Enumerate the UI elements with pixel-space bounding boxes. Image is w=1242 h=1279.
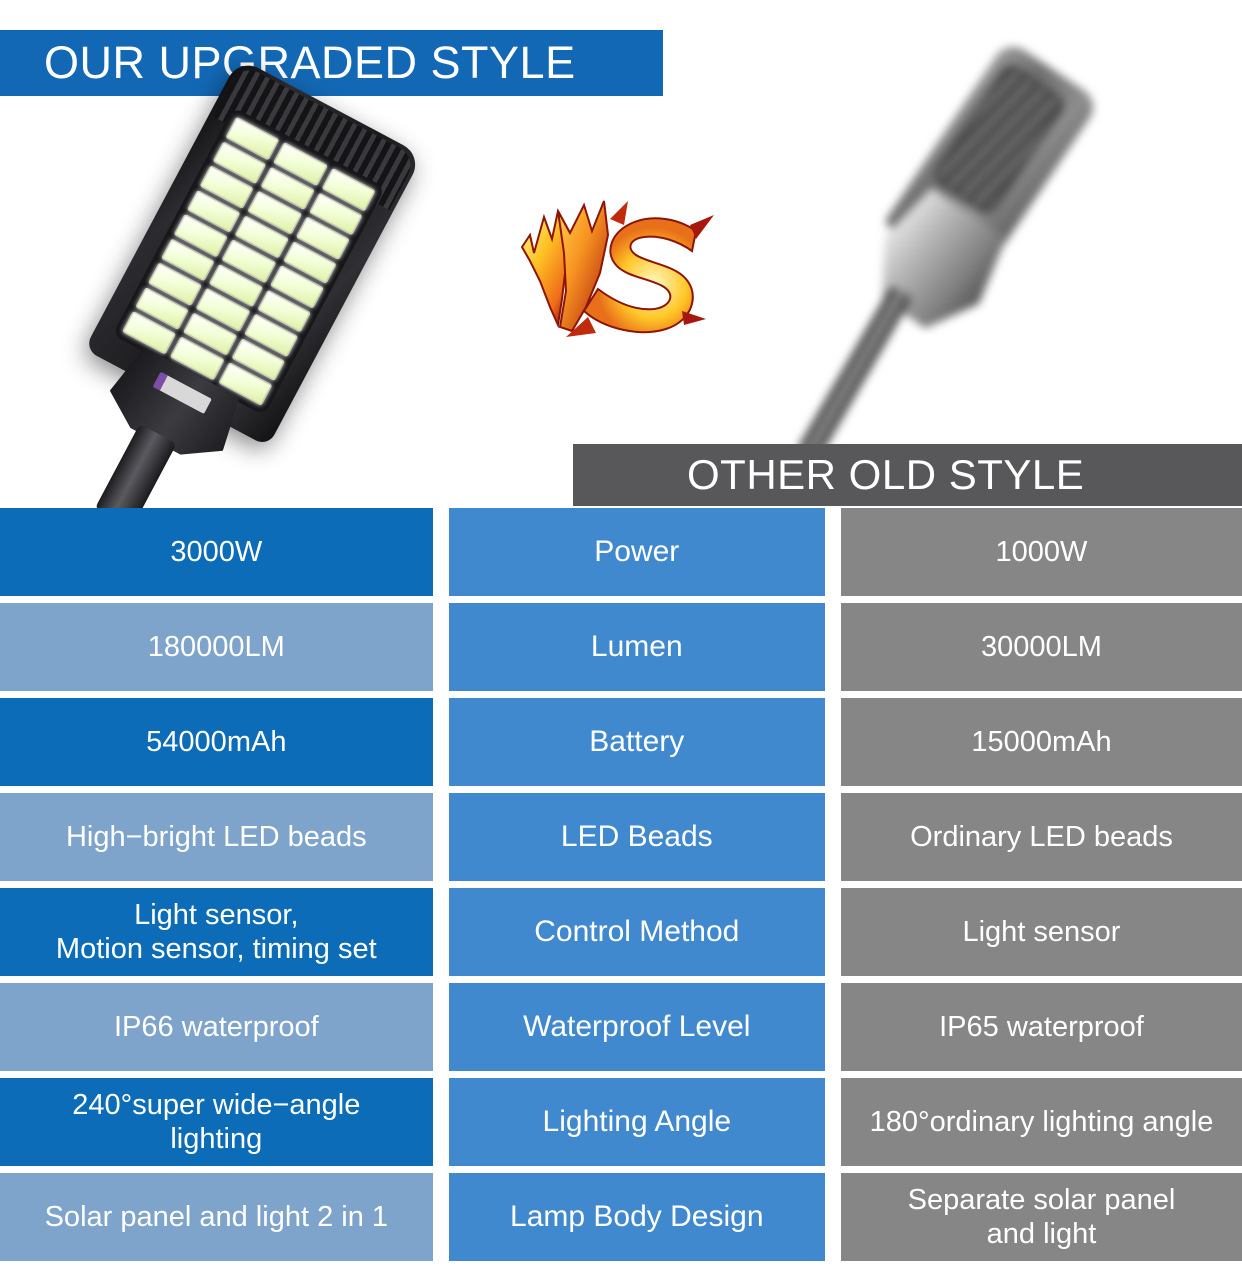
column-gap (825, 1173, 841, 1261)
cell-label-lumen: Lumen (449, 603, 825, 691)
cell-theirs-battery: 15000mAh (841, 698, 1242, 786)
cell-label-led-beads: LED Beads (449, 793, 825, 881)
banner-other-old-style: OTHER OLD STYLE (573, 444, 1242, 506)
cell-label-battery: Battery (449, 698, 825, 786)
new-led-street-light-image (14, 100, 444, 510)
cell-ours-lighting-angle-line1: 240°super wide−angle (72, 1088, 360, 1122)
column-gap (433, 793, 449, 881)
column-gap (825, 508, 841, 596)
cell-ours-control-method: Light sensor, Motion sensor, timing set (0, 888, 433, 976)
cell-ours-lighting-angle-line2: lighting (72, 1122, 360, 1156)
cell-label-lamp-body: Lamp Body Design (449, 1173, 825, 1261)
comparison-table: 3000W Power 1000W 180000LM Lumen 30000LM… (0, 508, 1242, 1268)
table-row: Light sensor, Motion sensor, timing set … (0, 888, 1242, 976)
cell-ours-led-beads: High−bright LED beads (0, 793, 433, 881)
cell-ours-power: 3000W (0, 508, 433, 596)
column-gap (825, 1078, 841, 1166)
cell-theirs-led-beads: Ordinary LED beads (841, 793, 1242, 881)
cell-theirs-lamp-body-line1: Separate solar panel (908, 1183, 1176, 1217)
table-row: Solar panel and light 2 in 1 Lamp Body D… (0, 1173, 1242, 1261)
cell-theirs-control-method: Light sensor (841, 888, 1242, 976)
table-row: 3000W Power 1000W (0, 508, 1242, 596)
cell-theirs-waterproof: IP65 waterproof (841, 983, 1242, 1071)
cell-label-control-method: Control Method (449, 888, 825, 976)
old-style-street-light-image (800, 80, 1242, 480)
cell-label-lighting-angle: Lighting Angle (449, 1078, 825, 1166)
cell-ours-control-method-line2: Motion sensor, timing set (56, 932, 377, 966)
column-gap (433, 983, 449, 1071)
table-row: 54000mAh Battery 15000mAh (0, 698, 1242, 786)
cell-theirs-lighting-angle: 180°ordinary lighting angle (841, 1078, 1242, 1166)
cell-ours-control-method-line1: Light sensor, (56, 898, 377, 932)
table-row: IP66 waterproof Waterproof Level IP65 wa… (0, 983, 1242, 1071)
column-gap (433, 698, 449, 786)
cell-ours-waterproof: IP66 waterproof (0, 983, 433, 1071)
lamp-body (0, 23, 515, 587)
column-gap (433, 1173, 449, 1261)
column-gap (433, 603, 449, 691)
cell-theirs-lamp-body-line2: and light (908, 1217, 1176, 1251)
table-row: 180000LM Lumen 30000LM (0, 603, 1242, 691)
cell-theirs-power: 1000W (841, 508, 1242, 596)
cell-ours-lumen: 180000LM (0, 603, 433, 691)
cell-theirs-lamp-body: Separate solar panel and light (841, 1173, 1242, 1261)
table-row: 240°super wide−angle lighting Lighting A… (0, 1078, 1242, 1166)
vs-flame-icon (500, 195, 715, 340)
column-gap (433, 1078, 449, 1166)
cell-ours-battery: 54000mAh (0, 698, 433, 786)
old-lamp-pole (797, 285, 913, 462)
cell-label-power: Power (449, 508, 825, 596)
column-gap (825, 983, 841, 1071)
column-gap (825, 698, 841, 786)
column-gap (825, 888, 841, 976)
column-gap (433, 508, 449, 596)
cell-ours-lamp-body: Solar panel and light 2 in 1 (0, 1173, 433, 1261)
cell-theirs-lumen: 30000LM (841, 603, 1242, 691)
column-gap (825, 603, 841, 691)
column-gap (433, 888, 449, 976)
banner-our-upgraded-style: OUR UPGRADED STYLE (0, 30, 663, 96)
cell-ours-lighting-angle: 240°super wide−angle lighting (0, 1078, 433, 1166)
cell-label-waterproof: Waterproof Level (449, 983, 825, 1071)
table-row: High−bright LED beads LED Beads Ordinary… (0, 793, 1242, 881)
column-gap (825, 793, 841, 881)
